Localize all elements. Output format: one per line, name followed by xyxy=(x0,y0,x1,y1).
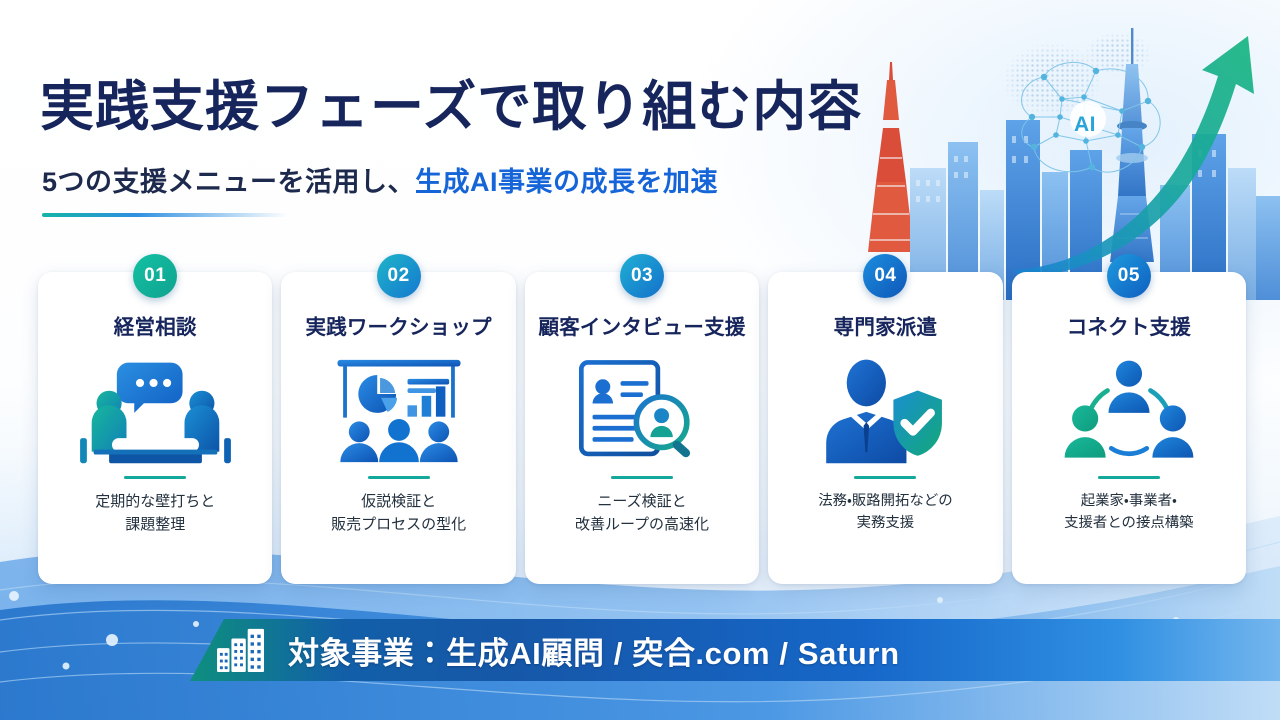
support-card-04[interactable]: 04 専門家派遣 法務・販路開拓などの 実務支援 xyxy=(768,272,1002,584)
ai-label: AI xyxy=(1062,110,1108,140)
card-divider xyxy=(368,476,430,479)
banner-text: 対象事業：生成AI顧問 / 突合.com / Saturn xyxy=(288,628,900,673)
title-underline xyxy=(42,213,288,217)
card-title: コネクト支援 xyxy=(1067,310,1191,340)
page-subtitle: 5つの支援メニューを活用し、生成AI事業の成長を加速 xyxy=(42,160,718,199)
support-card-02[interactable]: 02 実践ワークショップ xyxy=(281,272,515,584)
card-description: 定期的な壁打ちと 課題整理 xyxy=(95,491,215,536)
card-number-badge: 03 xyxy=(620,254,664,298)
buildings-icon xyxy=(216,627,266,673)
card-number-badge: 02 xyxy=(377,254,421,298)
support-menu-card-list: 01 経営相談 xyxy=(38,272,1246,584)
card-description: 仮説検証と 販売プロセスの型化 xyxy=(331,491,466,536)
support-card-03[interactable]: 03 顧客インタビュー支援 xyxy=(525,272,759,584)
card-divider xyxy=(1098,476,1160,479)
presentation-chart-audience-icon xyxy=(281,352,515,470)
card-description: 起業家・事業者・ 支援者との接点構築 xyxy=(1064,491,1193,534)
card-number-badge: 05 xyxy=(1107,254,1151,298)
page-title: 実践支援フェーズで取り組む内容 xyxy=(40,62,862,141)
card-divider xyxy=(124,476,186,479)
card-title: 顧客インタビュー支援 xyxy=(539,310,746,340)
card-description: ニーズ検証と 改善ループの高速化 xyxy=(575,491,709,536)
two-people-meeting-icon xyxy=(38,352,272,470)
card-title: 実践ワークショップ xyxy=(305,310,491,340)
card-divider xyxy=(854,476,916,479)
subtitle-accent: 生成AI事業の成長を加速 xyxy=(415,167,718,197)
card-title: 経営相談 xyxy=(114,310,197,340)
card-title: 専門家派遣 xyxy=(834,310,938,340)
card-divider xyxy=(611,476,673,479)
card-number-badge: 01 xyxy=(133,254,177,298)
slide-canvas: AI 実践支援フェーズで取り組む内容 5つの支援メニューを活用し、生成AI事業の… xyxy=(0,0,1280,720)
three-people-network-icon xyxy=(1012,352,1246,470)
target-business-banner: 対象事業：生成AI顧問 / 突合.com / Saturn xyxy=(190,619,1280,681)
card-number-badge: 04 xyxy=(863,254,907,298)
card-description: 法務・販路開拓などの 実務支援 xyxy=(818,491,952,534)
support-card-01[interactable]: 01 経営相談 xyxy=(38,272,272,584)
support-card-05[interactable]: 05 コネクト支援 xyxy=(1012,272,1246,584)
subtitle-plain: 5つの支援メニューを活用し、 xyxy=(42,167,415,197)
businessman-shield-check-icon xyxy=(768,352,1002,470)
profile-document-magnifier-icon xyxy=(525,352,759,470)
